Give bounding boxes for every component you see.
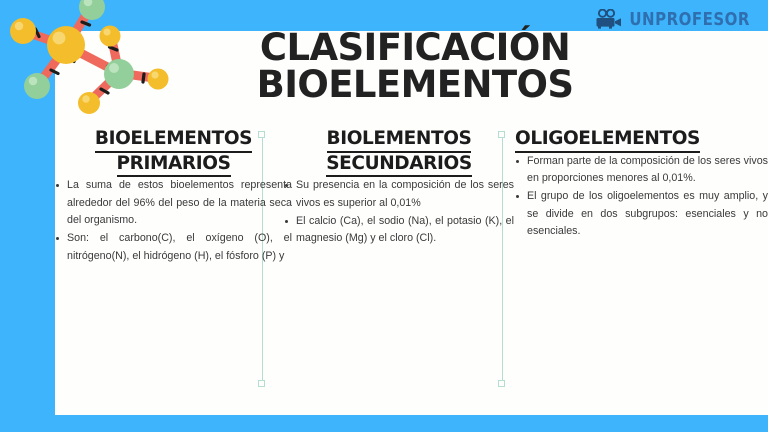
title-line-2: BIOELEMENTOS: [235, 67, 595, 104]
movie-camera-icon: [594, 9, 624, 29]
column-heading-line-1: BIOLEMENTOS: [327, 128, 472, 153]
columns-container: BIOELEMENTOS PRIMARIOS La suma de estos …: [55, 128, 768, 403]
column-bullet-list: Forman parte de la composición de los se…: [515, 153, 768, 241]
list-item: El grupo de los oligoelementos es muy am…: [515, 188, 768, 240]
column-heading-line-2: SECUNDARIOS: [326, 153, 472, 178]
list-item: Son: el carbono(C), el oxígeno (O), el n…: [55, 230, 292, 265]
column-bioelementos-primarios: BIOELEMENTOS PRIMARIOS La suma de estos …: [55, 128, 292, 266]
brand-name: UNPROFESOR: [629, 10, 750, 28]
column-heading-line-2: PRIMARIOS: [117, 153, 231, 178]
page-title: CLASIFICACIÓN BIOELEMENTOS: [235, 30, 595, 103]
column-bullet-list: Su presencia en la composición de los se…: [284, 177, 514, 247]
brand-logo[interactable]: UNPROFESOR: [594, 7, 750, 31]
list-item: Forman parte de la composición de los se…: [515, 153, 768, 188]
column-heading: BIOLEMENTOS SECUNDARIOS: [284, 128, 514, 177]
column-bullet-list: La suma de estos bioelementos representa…: [55, 177, 292, 265]
list-item: El calcio (Ca), el sodio (Na), el potasi…: [284, 213, 514, 248]
column-heading: OLIGOELEMENTOS: [515, 128, 768, 153]
molecule-illustration: [4, 0, 179, 120]
column-heading-line-1: OLIGOELEMENTOS: [515, 128, 700, 153]
column-oligoelementos: OLIGOELEMENTOS Forman parte de la compos…: [515, 128, 768, 241]
list-item: La suma de estos bioelementos representa…: [55, 177, 292, 229]
infographic-poster: UNPROFESOR: [0, 0, 768, 432]
column-biolementos-secundarios: BIOLEMENTOS SECUNDARIOS Su presencia en …: [284, 128, 514, 249]
column-heading: BIOELEMENTOS PRIMARIOS: [55, 128, 292, 177]
column-heading-line-1: BIOELEMENTOS: [95, 128, 252, 153]
list-item: Su presencia en la composición de los se…: [284, 177, 514, 212]
